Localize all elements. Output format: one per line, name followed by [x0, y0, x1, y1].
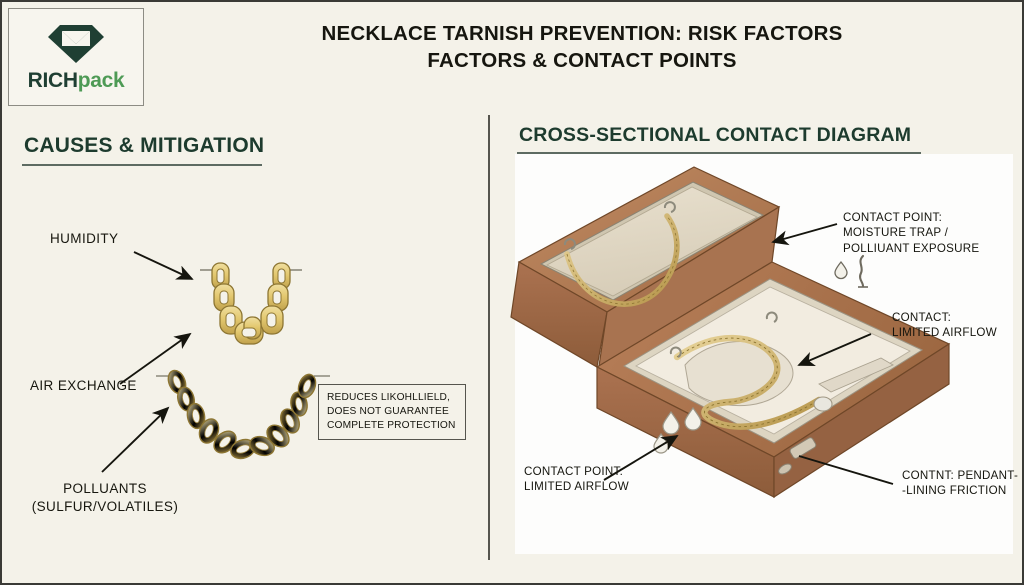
callout-moisture-trap: CONTACT POINT: MOISTURE TRAP / POLLIUANT… — [843, 210, 979, 256]
gem-diamond-icon — [40, 22, 112, 66]
gold-curb-chain-illustration — [200, 263, 302, 344]
diagram-panel-heading: CROSS-SECTIONAL CONTACT DIAGRAM — [519, 124, 911, 147]
arrow-humidity — [134, 252, 192, 279]
arrow-pollutants — [102, 408, 168, 472]
label-air-exchange: AIR EXCHANGE — [30, 377, 137, 395]
causes-panel: CAUSES & MITIGATION HUMIDITY AIR EXCHANG… — [2, 112, 488, 577]
causes-heading-rule — [22, 164, 262, 166]
callout-limited-airflow: CONTACT: LIMITED AIRFLOW — [892, 310, 997, 341]
logo-wordmark: RICHpack — [28, 69, 125, 93]
logo-word-pack: pack — [78, 69, 125, 92]
logo-word-rich: RICH — [28, 69, 78, 92]
brand-logo: RICHpack — [8, 8, 144, 106]
diagram-panel: CROSS-SECTIONAL CONTACT DIAGRAM — [489, 112, 1024, 577]
callout-contact-point-airflow: CONTACT POINT: LIMITED AIRFLOW — [524, 464, 629, 495]
label-humidity: HUMIDITY — [50, 230, 118, 248]
gold-cable-chain-illustration — [156, 368, 330, 462]
callout-pendant-lining-friction: CONTNT: PENDANT- -LINING FRICTION — [902, 468, 1018, 499]
title-line-1: NECKLACE TARNISH PREVENTION: RISK FACTOR… — [162, 20, 1002, 47]
mitigation-note-box: REDUCES LIKOHLLIELD, DOES NOT GUARANTEE … — [318, 384, 466, 440]
label-pollutants: POLLUANTS (SULFUR/VOLATILES) — [20, 480, 190, 516]
page-title: NECKLACE TARNISH PREVENTION: RISK FACTOR… — [162, 20, 1002, 74]
title-line-2: FACTORS & CONTACT POINTS — [162, 47, 1002, 74]
causes-panel-heading: CAUSES & MITIGATION — [24, 134, 264, 158]
infographic-poster: RICHpack NECKLACE TARNISH PREVENTION: RI… — [0, 0, 1024, 585]
